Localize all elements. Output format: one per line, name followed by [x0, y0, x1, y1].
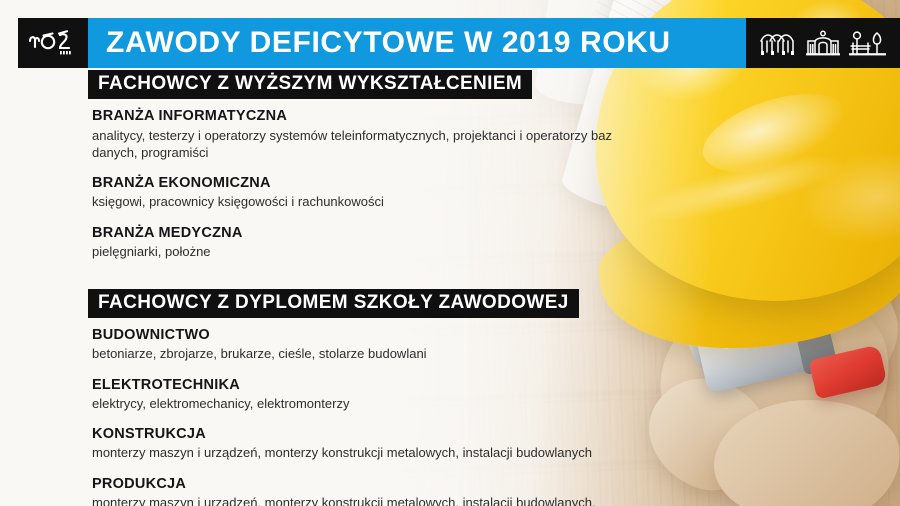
list-item: BRANŻA MEDYCZNA pielęgniarki, położne: [88, 224, 708, 260]
lodz-city-logo-icon: [26, 28, 80, 58]
item-description: betoniarze, zbrojarze, brukarze, cieśle,…: [92, 345, 652, 362]
item-title: BRANŻA MEDYCZNA: [92, 224, 708, 242]
list-item: BRANŻA INFORMATYCZNA analitycy, testerzy…: [88, 107, 708, 161]
item-description: elektrycy, elektromechanicy, elektromont…: [92, 395, 652, 412]
list-item: KONSTRUKCJA monterzy maszyn i urządzeń, …: [88, 425, 708, 461]
section-heading: FACHOWCY Z DYPLOMEM SZKOŁY ZAWODOWEJ: [88, 289, 579, 318]
item-description: analitycy, testerzy i operatorzy systemó…: [92, 127, 652, 162]
item-description: monterzy maszyn i urządzeń, monterzy kon…: [92, 494, 652, 506]
monument-icon[interactable]: [758, 30, 798, 56]
lodz-city-logo[interactable]: [18, 18, 88, 68]
list-item: PRODUKCJA monterzy maszyn i urządzeń, mo…: [88, 475, 708, 506]
section-heading: FACHOWCY Z WYŻSZYM WYKSZTAŁCENIEM: [88, 70, 532, 99]
item-title: KONSTRUKCJA: [92, 425, 708, 443]
page-title: ZAWODY DEFICYTOWE W 2019 ROKU: [106, 26, 671, 60]
header-icon-bar: [746, 18, 900, 68]
item-description: monterzy maszyn i urządzeń, monterzy kon…: [92, 444, 652, 461]
section-higher-education: FACHOWCY Z WYŻSZYM WYKSZTAŁCENIEM BRANŻA…: [88, 70, 708, 260]
header-bar: ZAWODY DEFICYTOWE W 2019 ROKU: [18, 18, 900, 68]
section-vocational-school: FACHOWCY Z DYPLOMEM SZKOŁY ZAWODOWEJ BUD…: [88, 273, 708, 506]
item-title: ELEKTROTECHNIKA: [92, 376, 708, 394]
item-description: księgowi, pracownicy księgowości i rachu…: [92, 193, 652, 210]
list-item: BRANŻA EKONOMICZNA księgowi, pracownicy …: [88, 174, 708, 210]
infographic-root: ZAWODY DEFICYTOWE W 2019 ROKU: [0, 0, 900, 506]
list-item: ELEKTROTECHNIKA elektrycy, elektromechan…: [88, 376, 708, 412]
park-bench-tree-icon[interactable]: [848, 30, 888, 56]
list-item: BUDOWNICTWO betoniarze, zbrojarze, bruka…: [88, 326, 708, 362]
item-title: BRANŻA INFORMATYCZNA: [92, 107, 708, 125]
gate-arch-icon[interactable]: [803, 30, 843, 56]
item-description: pielęgniarki, położne: [92, 243, 652, 260]
item-title: BRANŻA EKONOMICZNA: [92, 174, 708, 192]
item-title: PRODUKCJA: [92, 475, 708, 493]
title-banner: ZAWODY DEFICYTOWE W 2019 ROKU: [88, 18, 746, 68]
item-title: BUDOWNICTWO: [92, 326, 708, 344]
content-column: FACHOWCY Z WYŻSZYM WYKSZTAŁCENIEM BRANŻA…: [88, 70, 708, 506]
